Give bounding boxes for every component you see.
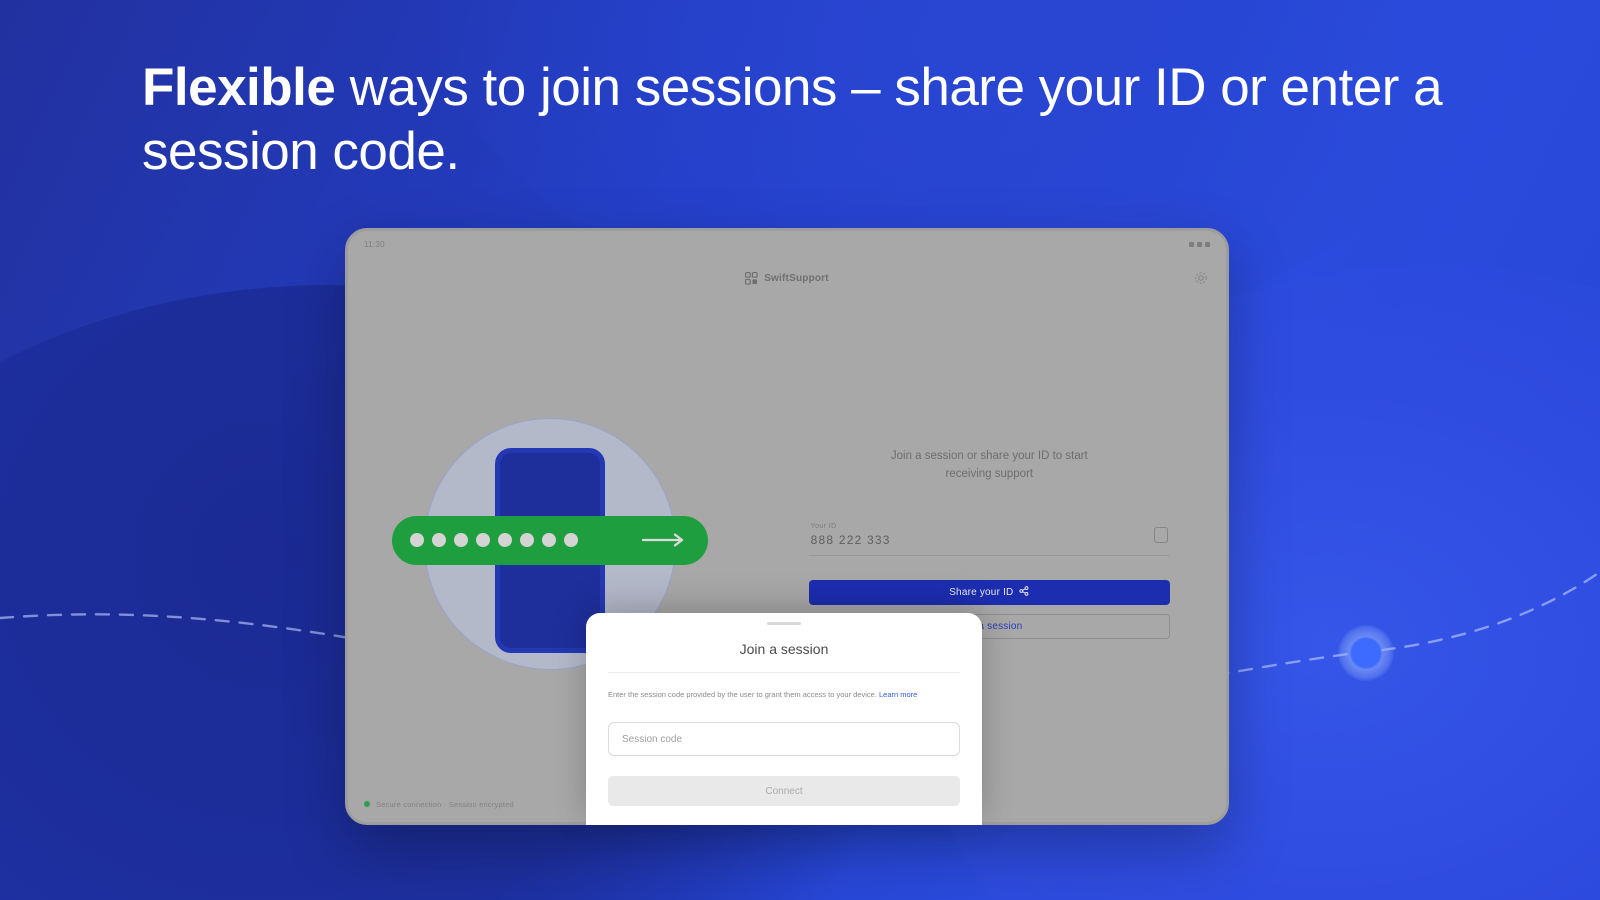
code-dot — [542, 533, 556, 547]
arrow-right-icon — [642, 533, 686, 547]
lead-text: Join a session or share your ID to start… — [879, 448, 1099, 484]
grid-logo-icon — [745, 272, 758, 285]
gear-icon[interactable] — [1194, 271, 1208, 285]
page-title: Flexible ways to join sessions – share y… — [142, 56, 1472, 183]
your-id-field[interactable]: Your ID 888 222 333 — [809, 519, 1170, 556]
code-dot — [432, 533, 446, 547]
battery-icon — [1205, 242, 1210, 247]
wave-node-dot — [1338, 625, 1394, 681]
code-dot — [454, 533, 468, 547]
learn-more-link[interactable]: Learn more — [879, 690, 917, 699]
modal-description: Enter the session code provided by the u… — [608, 689, 960, 700]
code-dots — [410, 533, 578, 547]
status-bar-clock: 11:30 — [364, 240, 385, 249]
connection-status-text: Secure connection · Session encrypted — [376, 800, 514, 809]
code-dot — [564, 533, 578, 547]
share-id-button[interactable]: Share your ID — [809, 580, 1170, 605]
brand-name: SwiftSupport — [764, 273, 829, 284]
code-dot — [476, 533, 490, 547]
share-icon — [1019, 586, 1029, 599]
modal-title: Join a session — [608, 641, 960, 673]
code-entry-pill — [392, 516, 708, 565]
session-code-input[interactable]: Session code — [608, 722, 960, 756]
join-session-modal: Join a session Enter the session code pr… — [586, 613, 982, 825]
code-dot — [520, 533, 534, 547]
app-bar: SwiftSupport — [348, 257, 1226, 299]
share-id-button-label: Share your ID — [949, 587, 1013, 598]
signal-icon — [1189, 242, 1194, 247]
drag-handle[interactable] — [767, 622, 801, 625]
brand: SwiftSupport — [745, 272, 829, 285]
modal-description-text: Enter the session code provided by the u… — [608, 690, 877, 699]
session-code-placeholder: Session code — [622, 734, 682, 745]
connect-button-label: Connect — [765, 786, 802, 797]
your-id-label: Your ID — [811, 523, 891, 530]
status-dot-icon — [364, 801, 370, 807]
your-id-text-group: Your ID 888 222 333 — [811, 523, 891, 547]
your-id-value: 888 222 333 — [811, 533, 891, 547]
headline-emphasis: Flexible — [142, 58, 335, 117]
device-status-bar: 11:30 — [348, 231, 1226, 257]
status-bar-indicators — [1189, 242, 1210, 247]
copy-icon[interactable] — [1154, 527, 1168, 543]
wifi-icon — [1197, 242, 1202, 247]
code-dot — [410, 533, 424, 547]
headline-rest: ways to join sessions – share your ID or… — [142, 58, 1442, 181]
code-dot — [498, 533, 512, 547]
connect-button[interactable]: Connect — [608, 776, 960, 806]
